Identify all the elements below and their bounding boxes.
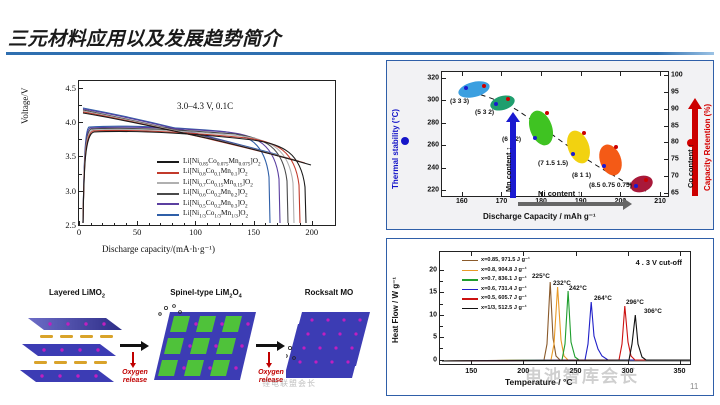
legend-swatch-icon [462, 308, 478, 309]
legend-label: x=0.5, 605.7 J g⁻¹ [481, 296, 527, 302]
data-point-label: (8 1 1) [572, 172, 591, 179]
oxygen-release-1-label: Oxygen release [114, 369, 156, 385]
voltage-chart-y-tick: 2.5 [65, 220, 76, 230]
legend-swatch-icon [157, 203, 179, 205]
data-point-label: (5 3 2) [475, 109, 494, 116]
transition-arrow-2-shaft [256, 344, 278, 347]
thermal-stability-point [494, 102, 498, 106]
thermal-chart-y-tick-right: 65 [671, 189, 679, 196]
structure-degradation-diagram: Layered LiMO2 [14, 288, 374, 396]
legend-item: x=0.8, 904.8 J g⁻¹ [462, 266, 530, 276]
thermal-stability-point [571, 152, 575, 156]
watermark: 电池智库会长 [525, 362, 639, 387]
thermal-stability-chart-panel: Thermal stability (°C) Capacity Retentio… [386, 60, 714, 230]
dsc-peak-label: 296°C [626, 299, 644, 306]
legend-label: Li[Ni1/3Co1/3Mn1/3]O2 [183, 209, 248, 220]
dsc-peak-label: 242°C [569, 285, 587, 292]
legend-swatch-icon [462, 289, 478, 290]
dsc-chart-x-tick: 350 [674, 366, 686, 375]
dsc-chart-y-axis-label: Heat Flow / W g⁻¹ [391, 277, 400, 343]
voltage-chart-y-tick: 4.5 [65, 83, 76, 93]
capacity-retention-point [582, 131, 586, 135]
legend-item: x=1/3, 512.5 J g⁻¹ [462, 304, 530, 314]
capacity-retention-point [614, 145, 618, 149]
thermal-stability-point [602, 164, 606, 168]
thermal-chart-y-tick-left: 240 [427, 164, 439, 171]
legend-label: x=0.8, 904.8 J g⁻¹ [481, 268, 527, 274]
thermal-chart-x-tick: 210 [654, 198, 666, 205]
legend-label: x=0.7, 836.1 J g⁻¹ [481, 277, 527, 283]
page-title: 三元材料应用以及发展趋势简介 [8, 24, 281, 51]
legend-swatch-icon [462, 279, 478, 280]
watermark-small: 锂电联盟会长 [262, 378, 316, 389]
thermal-chart-x-axis-label: Discharge Capacity / mAh g⁻¹ [483, 212, 596, 221]
legend-label: x=0.6, 731.4 J g⁻¹ [481, 287, 527, 293]
ni-content-arrow-icon [623, 198, 632, 210]
ni-content-annotation: Ni content ↑ [538, 189, 581, 198]
thermal-stability-legend-dot-icon [401, 137, 409, 145]
title-divider [6, 52, 714, 55]
dsc-chart-y-tick: 0 [433, 356, 437, 363]
voltage-chart-y-tick: 3.0 [65, 186, 76, 196]
thermal-chart-y-axis-label-left: Thermal stability (°C) [391, 109, 400, 189]
dsc-chart-y-tick: 5 [433, 334, 437, 341]
transition-arrow-1-shaft [120, 344, 142, 347]
transition-arrow-2-head-icon [277, 341, 285, 351]
thermal-chart-x-tick: 170 [496, 198, 508, 205]
voltage-chart-x-tick: 0 [77, 227, 81, 237]
thermal-chart-x-tick: 160 [456, 198, 468, 205]
voltage-chart-x-tick: 200 [305, 227, 318, 237]
legend-label: x=0.85, 971.5 J g⁻¹ [481, 258, 530, 264]
legend-swatch-icon [462, 270, 478, 271]
capacity-retention-point [545, 111, 549, 115]
dsc-chart-legend: x=0.85, 971.5 J g⁻¹ x=0.8, 904.8 J g⁻¹ x… [462, 256, 530, 314]
thermal-chart-y-tick-left: 320 [427, 74, 439, 81]
dsc-peak-label: 225°C [532, 273, 550, 280]
thermal-stability-point [634, 184, 638, 188]
capacity-retention-point [506, 97, 510, 101]
voltage-chart-y-tick: 3.5 [65, 151, 76, 161]
legend-swatch-icon [157, 193, 179, 195]
thermal-chart-y-tick-right: 95 [671, 89, 679, 96]
dsc-chart-x-tick: 150 [465, 366, 477, 375]
voltage-chart-x-tick: 50 [133, 227, 142, 237]
dsc-peak-label: 264°C [594, 295, 612, 302]
thermal-chart-y-tick-right: 90 [671, 105, 679, 112]
thermal-chart-y-tick-right: 80 [671, 139, 679, 146]
oxygen-release-2-arrow-head-icon [266, 363, 272, 368]
legend-item: x=0.5, 605.7 J g⁻¹ [462, 294, 530, 304]
thermal-chart-y-tick-right: 70 [671, 172, 679, 179]
dsc-chart-y-tick: 10 [429, 311, 437, 318]
legend-item: x=0.85, 971.5 J g⁻¹ [462, 256, 530, 266]
capacity-retention-point [482, 84, 486, 88]
thermal-chart-y-tick-left: 260 [427, 142, 439, 149]
legend-swatch-icon [157, 182, 179, 184]
data-point-label: (3 3 3) [450, 98, 469, 105]
thermal-chart-y-tick-right: 75 [671, 156, 679, 163]
stage-label-spinel: Spinel-type LiM2O4 [150, 288, 262, 300]
thermal-chart-plot-area: 220 240 260 280 300 320 65 70 75 80 85 9… [441, 71, 669, 197]
voltage-chart-x-tick: 100 [189, 227, 202, 237]
co-content-annotation: Co content ↑ [686, 144, 695, 188]
thermal-chart-y-tick-left: 220 [427, 187, 439, 194]
stage-label-layered: Layered LiMO2 [22, 288, 132, 300]
dsc-peak-label: 306°C [644, 308, 662, 315]
stage-label-rocksalt: Rocksalt MO [286, 288, 372, 297]
capacity-retention-point [644, 178, 648, 182]
legend-item: x=0.6, 731.4 J g⁻¹ [462, 285, 530, 295]
voltage-chart-plot-area: 3.0–4.3 V, 0.1C 2.5 3.0 3.5 4.0 4.5 0 50… [78, 80, 336, 226]
ni-content-arrow-shaft [518, 202, 624, 206]
voltage-chart-legend: Li[Ni0.85Co0.075Mn0.075]O2 Li[Ni0.8Co0.1… [157, 157, 261, 220]
voltage-curve-chart: Voltage/V Discharge capacity/(mA·h·g⁻¹) … [22, 66, 342, 262]
voltage-chart-x-axis-label: Discharge capacity/(mA·h·g⁻¹) [102, 244, 215, 255]
thermal-chart-y-tick-left: 300 [427, 97, 439, 104]
legend-swatch-icon [157, 172, 179, 174]
voltage-chart-y-tick: 4.0 [65, 117, 76, 127]
dsc-chart-y-tick: 20 [429, 266, 437, 273]
legend-item: x=0.7, 836.1 J g⁻¹ [462, 275, 530, 285]
voltage-chart-y-axis-label: Voltage/V [20, 88, 30, 124]
thermal-chart-y-tick-right: 85 [671, 122, 679, 129]
thermal-stability-point [464, 86, 468, 90]
legend-swatch-icon [157, 161, 179, 163]
legend-swatch-icon [462, 298, 478, 299]
dsc-chart-y-tick: 15 [429, 289, 437, 296]
voltage-chart-x-tick: 150 [247, 227, 260, 237]
dsc-chart-plot-area: 4 . 3 V cut-off 0 5 10 15 20 150 200 250… [439, 251, 691, 365]
legend-item: Li[Ni1/3Co1/3Mn1/3]O2 [157, 210, 261, 221]
thermal-stability-point [533, 136, 537, 140]
data-point-label: (7 1.5 1.5) [538, 160, 568, 167]
legend-label: x=1/3, 512.5 J g⁻¹ [481, 306, 527, 312]
oxygen-release-1-arrow-head-icon [130, 363, 136, 368]
legend-swatch-icon [157, 214, 179, 216]
page-number: 11 [690, 382, 698, 391]
thermal-chart-y-tick-right: 100 [671, 72, 683, 79]
rocksalt-structure-graphic [286, 304, 374, 386]
legend-swatch-icon [462, 260, 478, 261]
thermal-chart-y-tick-left: 280 [427, 119, 439, 126]
data-point-label: (8.5 0.75 0.75) [589, 182, 632, 189]
mn-content-annotation: Mn content ↑ [504, 147, 513, 192]
transition-arrow-1-head-icon [141, 341, 149, 351]
thermal-chart-y-axis-label-right: Capacity Retention (%) [703, 104, 712, 191]
spinel-structure-graphic [152, 304, 264, 386]
